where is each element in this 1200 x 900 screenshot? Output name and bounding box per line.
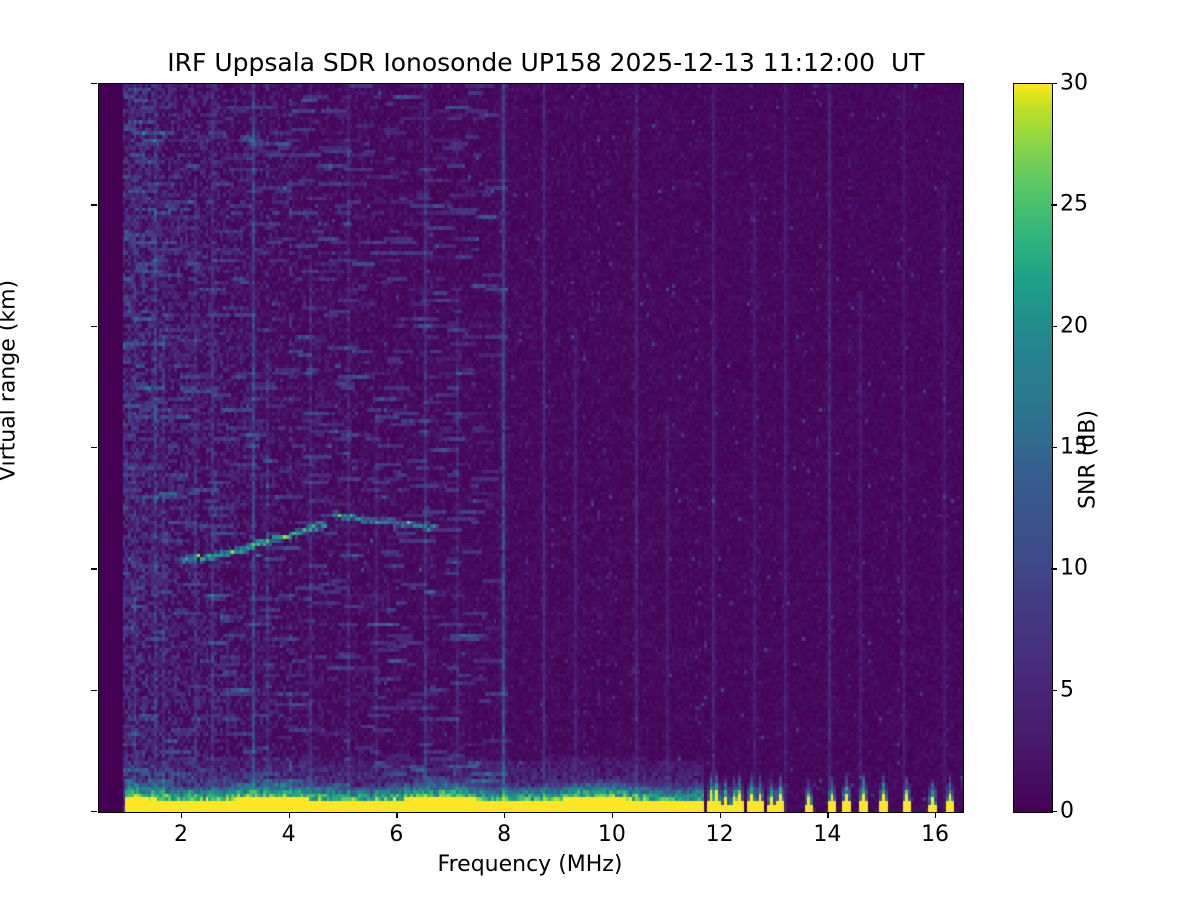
title-line-1: IRF Uppsala SDR Ionosonde UP158 2025-12-… [167,48,924,77]
ionogram-figure: IRF Uppsala SDR Ionosonde UP158 2025-12-… [0,0,1200,900]
colorbar-tick-mark [1051,690,1057,691]
colorbar-label: SNR (dB) [1076,280,1101,640]
x-tick-mark [396,812,397,818]
colorbar-tick-mark [1051,568,1057,569]
y-tick-mark [91,811,97,812]
colorbar-tick-mark [1051,447,1057,448]
colorbar-tick-label: 30 [1060,71,1088,96]
colorbar-tick-mark [1051,326,1057,327]
x-tick-label: 6 [389,822,403,847]
x-tick-label: 12 [706,822,734,847]
x-tick-label: 10 [598,822,626,847]
colorbar-tick-mark [1051,811,1057,812]
x-tick-mark [181,812,182,818]
ionogram-plot-area[interactable] [98,83,964,813]
y-axis-label: Virtual range (km) [0,1,21,761]
colorbar-tick-label: 25 [1060,192,1088,217]
y-tick-mark [91,204,97,205]
y-tick-mark [91,326,97,327]
x-tick-mark [720,812,721,818]
colorbar-tick-mark [1051,204,1057,205]
x-tick-mark [504,812,505,818]
x-tick-label: 2 [174,822,188,847]
colorbar-tick-label: 5 [1060,677,1074,702]
x-axis-label: Frequency (MHz) [98,852,962,877]
x-tick-label: 4 [282,822,296,847]
y-tick-mark [91,568,97,569]
x-tick-mark [935,812,936,818]
colorbar-tick-label: 0 [1060,799,1074,824]
y-tick-mark [91,447,97,448]
ionogram-heatmap [99,84,963,812]
x-tick-mark [289,812,290,818]
y-tick-mark [91,690,97,691]
x-tick-label: 16 [921,822,949,847]
x-tick-label: 14 [813,822,841,847]
x-tick-mark [612,812,613,818]
x-tick-label: 8 [497,822,511,847]
colorbar-tick-mark [1051,83,1057,84]
colorbar-gradient [1013,83,1053,813]
x-tick-mark [827,812,828,818]
y-tick-mark [91,83,97,84]
